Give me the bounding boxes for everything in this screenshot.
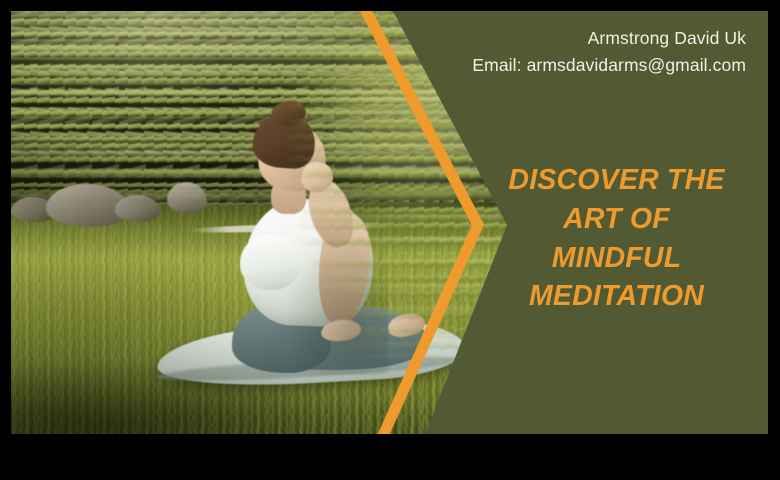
page-title: DISCOVER THE ART OF MINDFUL MEDITATION: [479, 161, 768, 316]
headline-line-3: MINDFUL: [479, 239, 754, 278]
headline-line-2: ART OF: [479, 200, 754, 239]
photo-soft-focus: [11, 11, 507, 434]
contact-email: Email: armsdavidarms@gmail.com: [472, 52, 746, 79]
contact-name: Armstrong David Uk: [472, 25, 746, 52]
contact-block: Armstrong David Uk Email: armsdavidarms@…: [472, 25, 746, 78]
headline-line-1: DISCOVER THE: [479, 161, 754, 200]
headline-line-4: MEDITATION: [479, 277, 754, 316]
meditation-photo: [11, 11, 507, 434]
promo-banner: Armstrong David Uk Email: armsdavidarms@…: [11, 11, 768, 434]
